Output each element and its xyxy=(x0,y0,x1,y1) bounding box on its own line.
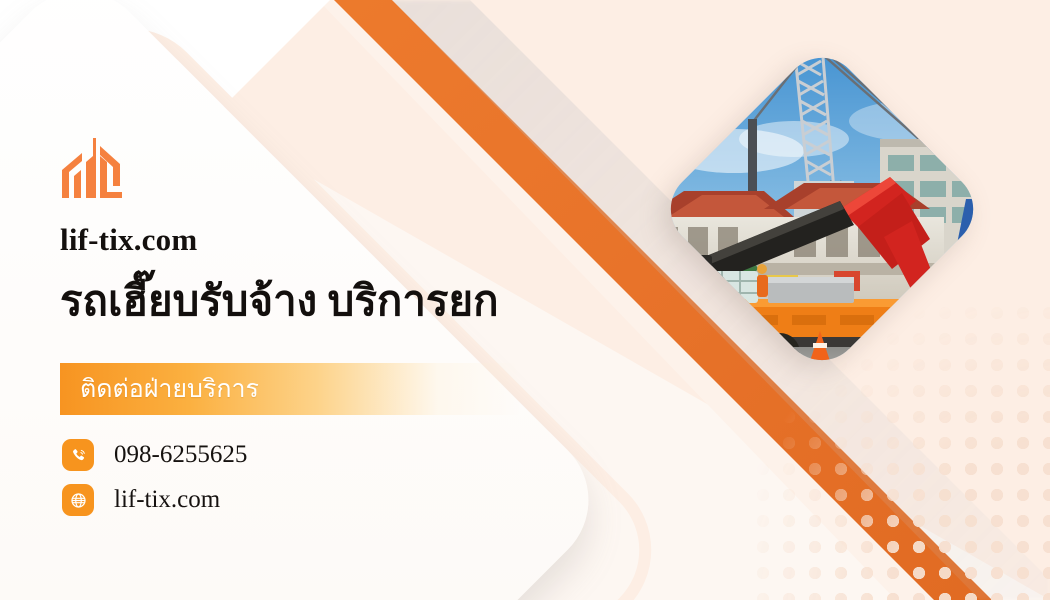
headline-text: รถเฮี๊ยบรับจ้าง บริการยก xyxy=(60,278,499,328)
brand-name: lif-tix.com xyxy=(60,222,197,258)
building-lines-logo-icon xyxy=(60,136,128,200)
contact-list: 098-6255625 lif-tix.com xyxy=(62,434,247,524)
phone-icon xyxy=(62,439,94,471)
photo-frame xyxy=(655,42,989,376)
website-url: lif-tix.com xyxy=(114,486,220,514)
cta-label: ติดต่อฝ่ายบริการ xyxy=(60,369,259,409)
promo-banner: lif-tix.com รถเฮี๊ยบรับจ้าง บริการยก ติด… xyxy=(0,0,1050,600)
contact-website-row[interactable]: lif-tix.com xyxy=(62,479,247,521)
phone-number: 098-6255625 xyxy=(114,441,247,469)
globe-icon xyxy=(62,484,94,516)
crane-photo-illustration xyxy=(655,42,989,376)
cta-banner[interactable]: ติดต่อฝ่ายบริการ xyxy=(60,363,520,415)
crane-photo xyxy=(655,42,989,376)
contact-phone-row[interactable]: 098-6255625 xyxy=(62,434,247,476)
content-column: lif-tix.com รถเฮี๊ยบรับจ้าง บริการยก ติด… xyxy=(60,0,580,600)
